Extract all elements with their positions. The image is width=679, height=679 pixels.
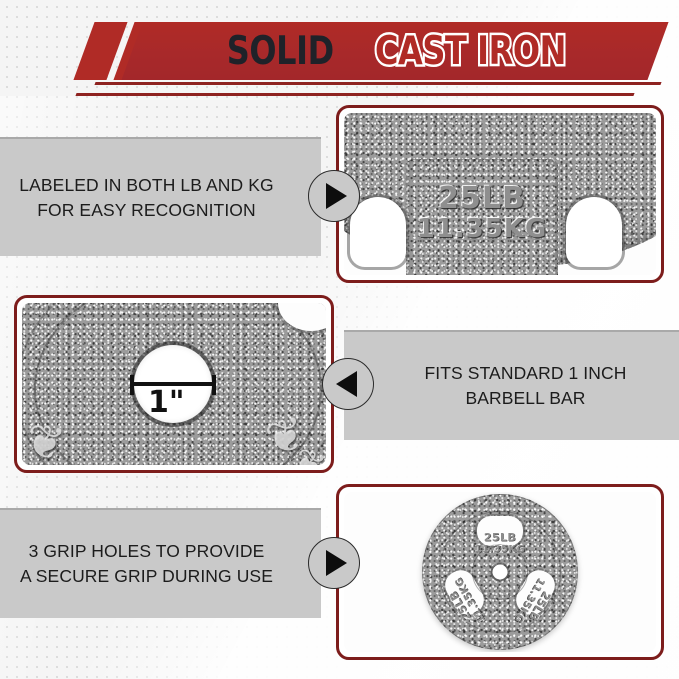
play-left-icon-fits-standard-bar[interactable] — [322, 358, 374, 410]
triangle-glyph — [336, 371, 357, 397]
play-right-icon-labeled-lb-kg[interactable] — [308, 170, 360, 222]
weight-plate: 25LB 11.35KG 25LB 11.35KG 25LB 11.35KG — [422, 494, 578, 650]
caption-line-2: BARBELL BAR — [425, 386, 627, 411]
caption-line-1: FITS STANDARD 1 INCH — [425, 361, 627, 386]
embossed-weight-lb: 25LB — [406, 183, 558, 215]
caption-line-1: LABELED IN BOTH LB AND KG — [19, 173, 273, 198]
embossed-weight-text: 25LB 11.35KG — [406, 183, 558, 244]
caption-box-three-grip-holes: 3 GRIP HOLES TO PROVIDE A SECURE GRIP DU… — [0, 508, 321, 618]
grip-hole-left — [350, 197, 406, 267]
play-right-icon-three-grip-holes[interactable] — [308, 537, 360, 589]
product-feature-infographic: SOLID CAST IRON LABELED IN BOTH LB AND K… — [0, 0, 679, 679]
caption-text-fits-standard-bar: FITS STANDARD 1 INCH BARBELL BAR — [391, 361, 637, 411]
caption-box-labeled-lb-kg: LABELED IN BOTH LB AND KG FOR EASY RECOG… — [0, 137, 321, 256]
page-title-cast-iron: CAST IRON — [375, 29, 566, 74]
grip-hole-1 — [477, 516, 523, 546]
embossed-weight-kg: 11.35KG — [406, 215, 558, 244]
header-banner: SOLID CAST IRON — [0, 0, 679, 112]
caption-line-2: A SECURE GRIP DURING USE — [20, 564, 273, 589]
full-weight-plate-photo: 25LB 11.35KG 25LB 11.35KG 25LB 11.35KG — [344, 492, 656, 652]
plate-label-closeup-photo: 25LB 11.35KG — [344, 113, 656, 275]
triangle-glyph — [326, 550, 347, 576]
banner-rule-upper — [94, 82, 661, 85]
caption-box-fits-standard-bar: FITS STANDARD 1 INCH BARBELL BAR — [344, 330, 679, 440]
center-hole-closeup-photo: ❦ ❦ ❦ 1" — [22, 303, 326, 465]
plate-arch-contour-line — [344, 113, 614, 123]
caption-text-three-grip-holes: 3 GRIP HOLES TO PROVIDE A SECURE GRIP DU… — [10, 539, 307, 589]
triangle-glyph — [326, 183, 347, 209]
photo-frame-center-hole-closeup: ❦ ❦ ❦ 1" — [14, 295, 334, 473]
grip-hole-right — [566, 197, 622, 267]
photo-frame-plate-label-closeup: 25LB 11.35KG — [336, 105, 664, 283]
plate-center-bore — [493, 565, 508, 580]
page-title-solid: SOLID — [227, 29, 334, 74]
banner-title-group: SOLID CAST IRON — [132, 22, 658, 80]
dimension-label-one-inch: 1" — [148, 385, 185, 420]
caption-text-labeled-lb-kg: LABELED IN BOTH LB AND KG FOR EASY RECOG… — [9, 173, 307, 223]
plate-texture-swirl-left: ❦ — [22, 412, 69, 465]
caption-line-1: 3 GRIP HOLES TO PROVIDE — [20, 539, 273, 564]
photo-frame-full-weight-plate: 25LB 11.35KG 25LB 11.35KG 25LB 11.35KG — [336, 484, 664, 660]
banner-rule-lower — [75, 93, 634, 96]
caption-line-2: FOR EASY RECOGNITION — [19, 198, 273, 223]
